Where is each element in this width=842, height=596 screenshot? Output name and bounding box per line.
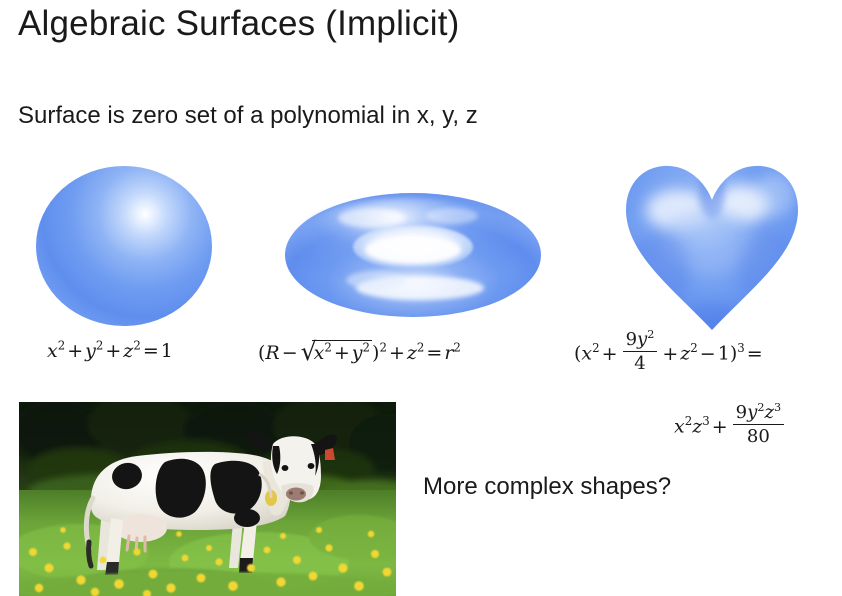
heart-fraction-9y2z3-over-80: 9y2z380 — [733, 402, 784, 447]
heart-y: y — [637, 329, 647, 350]
torus-equals: = — [424, 342, 444, 364]
sphere-plus-1: + — [65, 340, 85, 362]
torus-z: z — [407, 342, 417, 364]
heart-surface — [620, 158, 804, 336]
torus-formula: (R−√x2+y2)2+z2=r2 — [258, 340, 461, 364]
heart-equals: = — [745, 343, 765, 365]
cow-photo — [19, 402, 396, 596]
heart-frac1-denominator: 4 — [623, 352, 658, 374]
torus-r-exp: 2 — [453, 341, 461, 355]
sphere-exp-z: 2 — [133, 339, 141, 353]
heart-one: 1 — [718, 343, 730, 365]
sphere-plus-2: + — [103, 340, 123, 362]
sphere-rhs: 1 — [161, 340, 173, 362]
heart-rhs-z-exp: 3 — [702, 414, 710, 428]
radical-icon: √ — [301, 339, 317, 364]
torus-figure — [284, 192, 542, 318]
sphere-figure — [36, 166, 212, 326]
heart-y-exp: 2 — [647, 328, 654, 341]
torus-radicand: x2+y2 — [312, 340, 372, 364]
heart-rhs-y: y — [747, 402, 757, 423]
heart-z-exp: 2 — [690, 341, 698, 355]
heart-formula-line-2: x2z3+9y2z380 — [674, 405, 787, 450]
heart-frac2-denominator: 80 — [733, 425, 784, 447]
heart-frac1-numerator: 9y2 — [623, 329, 658, 352]
heart-z: z — [680, 343, 690, 365]
heart-figure — [620, 158, 804, 336]
heart-formula-line-1: (x2+9y24+z2−1)3= — [574, 332, 765, 377]
torus-y-exp: 2 — [363, 341, 371, 355]
heart-minus: − — [698, 343, 718, 365]
sphere-term-z: z — [123, 340, 133, 362]
more-complex-shapes-text: More complex shapes? — [423, 473, 671, 501]
torus-sqrt: √x2+y2 — [301, 340, 372, 364]
torus-major-radius: R — [265, 342, 279, 364]
torus-plus-outer: + — [387, 342, 407, 364]
heart-rhs-nine: 9 — [736, 402, 747, 423]
page-title: Algebraic Surfaces (Implicit) — [18, 4, 460, 44]
torus-minus: − — [280, 342, 300, 364]
heart-frac2-numerator: 9y2z3 — [733, 402, 784, 425]
sphere-surface — [36, 166, 212, 326]
sphere-formula: x2+y2+z2=1 — [47, 340, 173, 362]
torus-y: y — [352, 342, 363, 364]
heart-fraction-9y2-over-4: 9y24 — [623, 329, 658, 374]
heart-rhs-z: z — [692, 416, 702, 438]
torus-group-exp: 2 — [379, 341, 387, 355]
heart-x: x — [581, 343, 592, 365]
sphere-term-y: y — [85, 340, 96, 362]
heart-plus-1: + — [600, 343, 620, 365]
heart-rhs-plus: + — [710, 416, 730, 438]
torus-x-exp: 2 — [324, 341, 332, 355]
slide-subtitle: Surface is zero set of a polynomial in x… — [18, 102, 478, 130]
heart-rhs-z2: z — [764, 402, 774, 423]
cow-photo-image — [19, 402, 396, 596]
sphere-term-x: x — [47, 340, 58, 362]
torus-plus-inner: + — [332, 342, 352, 364]
heart-group-exp: 3 — [737, 341, 745, 355]
torus-surface — [284, 192, 542, 318]
heart-plus-2: + — [660, 343, 680, 365]
heart-x-exp: 2 — [592, 341, 600, 355]
heart-rhs-z2-exp: 3 — [774, 401, 781, 414]
sphere-equals: = — [141, 340, 161, 362]
heart-nine: 9 — [626, 329, 637, 350]
heart-rhs-x: x — [674, 416, 685, 438]
